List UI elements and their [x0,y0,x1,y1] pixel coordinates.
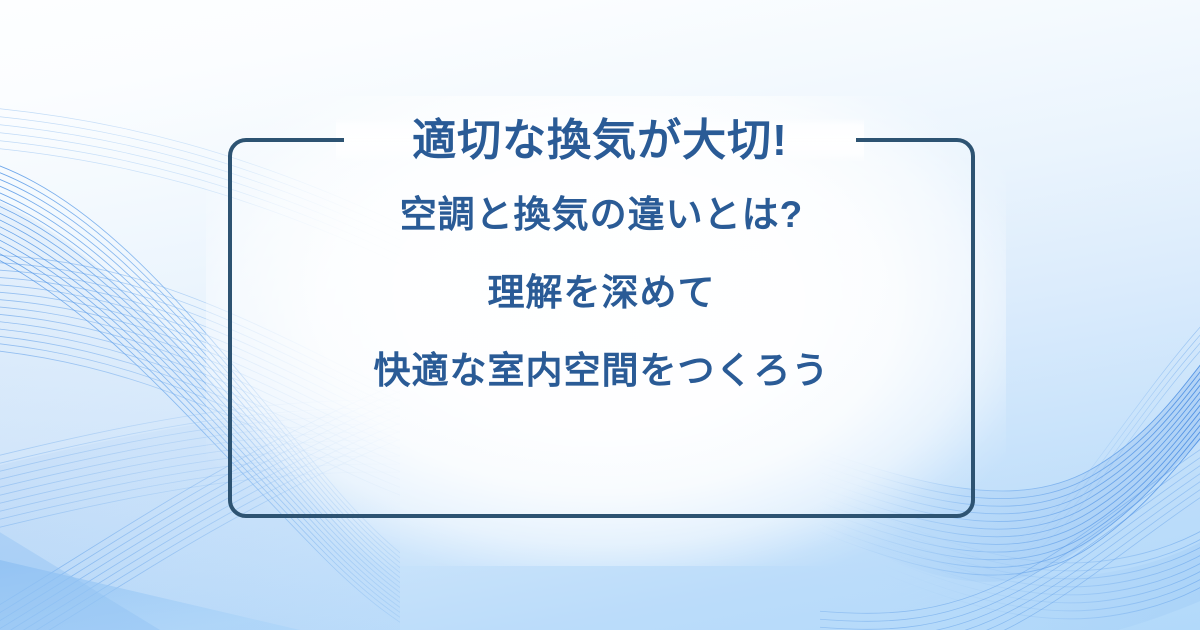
banner-subtitle-line-2: 理解を深めて [250,274,953,311]
banner-subtitle-block: 空調と換気の違いとは? 理解を深めて 快適な室内空間をつくろう [250,196,953,389]
title-rule-right-icon [856,138,918,142]
banner-title-row: 適切な換気が大切! [0,113,1200,169]
banner-title: 適切な換気が大切! [398,119,802,163]
banner-subtitle-line-1: 空調と換気の違いとは? [250,196,953,233]
title-rule-left-icon [282,138,344,142]
eyecatch-banner: 適切な換気が大切! 空調と換気の違いとは? 理解を深めて 快適な室内空間をつくろ… [0,0,1200,630]
banner-subtitle-line-3: 快適な室内空間をつくろう [250,352,953,389]
